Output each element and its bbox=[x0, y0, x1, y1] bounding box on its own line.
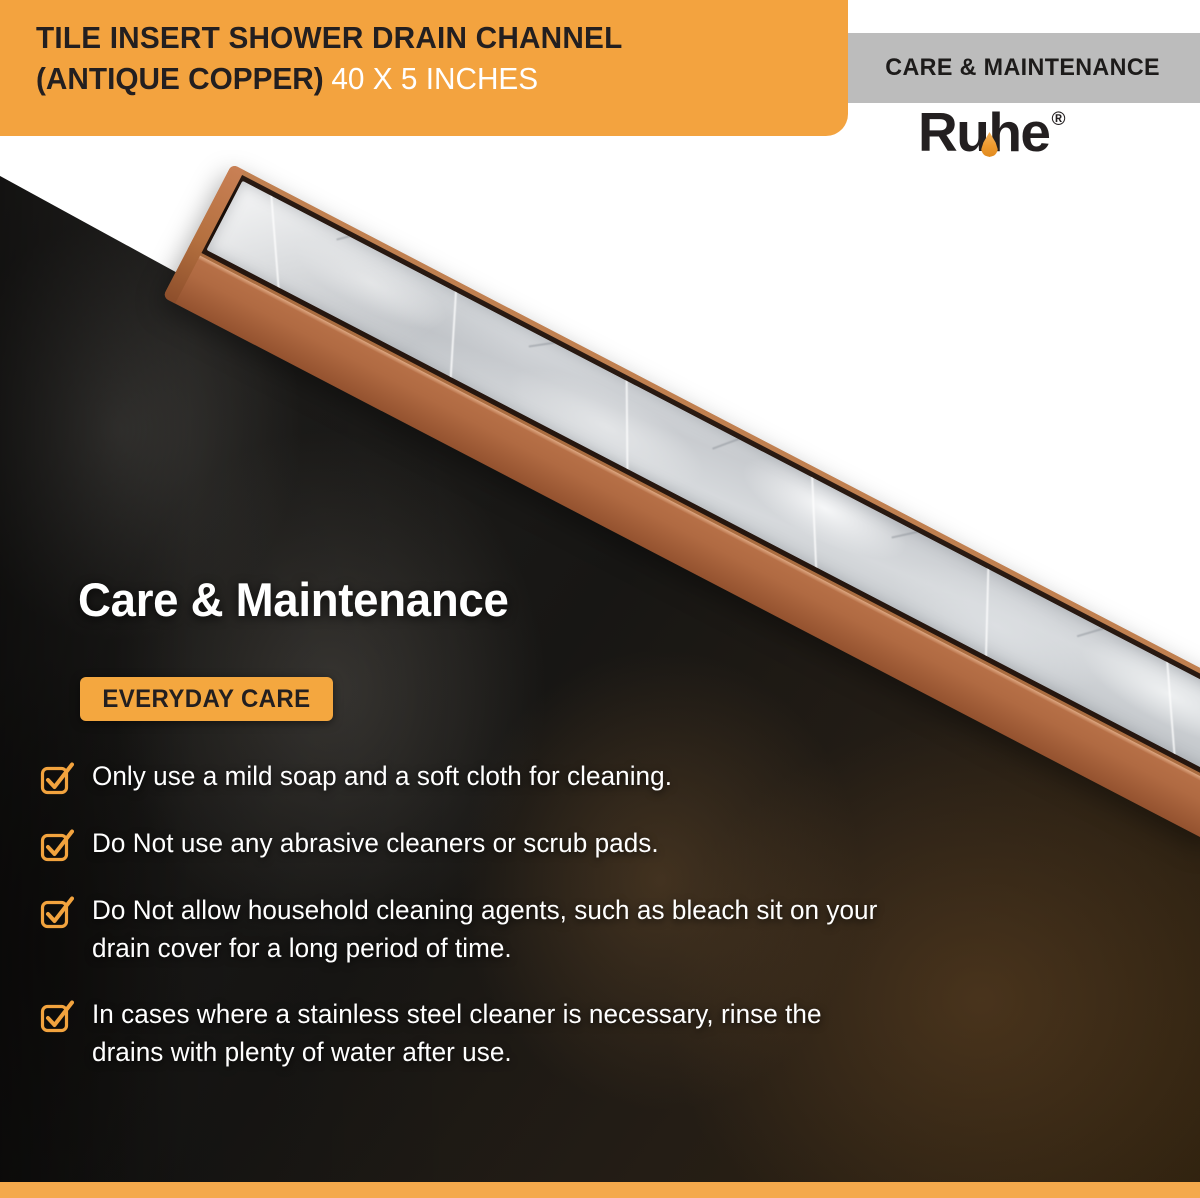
checkbox-checked-icon bbox=[40, 829, 74, 863]
list-item: Do Not allow household cleaning agents, … bbox=[40, 892, 1040, 967]
registered-trademark-icon: ® bbox=[1052, 109, 1066, 131]
everyday-care-badge: EVERYDAY CARE bbox=[80, 677, 333, 721]
list-item-text: Only use a mild soap and a soft cloth fo… bbox=[92, 758, 672, 796]
checkbox-checked-icon bbox=[40, 762, 74, 796]
category-label: CARE & MAINTENANCE bbox=[886, 54, 1161, 82]
list-item: Do Not use any abrasive cleaners or scru… bbox=[40, 825, 1040, 863]
brand-logo: Ruhe ® bbox=[918, 105, 1066, 160]
list-item: Only use a mild soap and a soft cloth fo… bbox=[40, 758, 1040, 796]
category-header-bar: CARE & MAINTENANCE bbox=[846, 33, 1200, 103]
product-title-line1: TILE INSERT SHOWER DRAIN CHANNEL bbox=[36, 20, 816, 57]
product-finish-label: (ANTIQUE COPPER) bbox=[36, 61, 324, 96]
product-title-line2: (ANTIQUE COPPER)40 X 5 INCHES bbox=[36, 61, 816, 98]
checkbox-checked-icon bbox=[40, 1000, 74, 1034]
product-title-banner: TILE INSERT SHOWER DRAIN CHANNEL (ANTIQU… bbox=[0, 0, 848, 136]
main-content: Care & Maintenance EVERYDAY CARE Only us… bbox=[0, 0, 1200, 1198]
infographic-page: CARE & MAINTENANCE TILE INSERT SHOWER DR… bbox=[0, 0, 1200, 1198]
section-title: Care & Maintenance bbox=[78, 572, 509, 627]
checkbox-checked-icon bbox=[40, 896, 74, 930]
everyday-care-badge-label: EVERYDAY CARE bbox=[102, 685, 310, 714]
list-item-text: In cases where a stainless steel cleaner… bbox=[92, 996, 855, 1071]
water-drop-icon bbox=[981, 132, 998, 157]
list-item: In cases where a stainless steel cleaner… bbox=[40, 996, 1040, 1071]
care-instruction-list: Only use a mild soap and a soft cloth fo… bbox=[40, 758, 1040, 1072]
list-item-text: Do Not allow household cleaning agents, … bbox=[92, 892, 880, 967]
brand-name: Ruhe bbox=[918, 105, 1050, 160]
bottom-accent-bar bbox=[0, 1182, 1200, 1198]
product-size-label: 40 X 5 INCHES bbox=[331, 61, 538, 96]
list-item-text: Do Not use any abrasive cleaners or scru… bbox=[92, 825, 659, 863]
